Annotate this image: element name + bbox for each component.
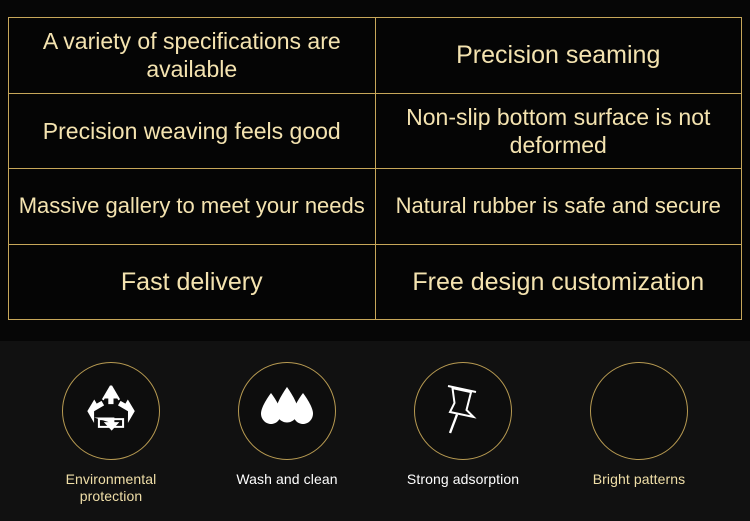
- feature-icon-strip: Environmental protection Wash and clean: [0, 341, 750, 521]
- table-row: A variety of specifications are availabl…: [9, 18, 741, 94]
- icon-item-strong-adsorption: Strong adsorption: [393, 362, 533, 488]
- icon-item-bright-patterns: Bright patterns: [569, 362, 709, 488]
- feature-text: Natural rubber is safe and secure: [396, 193, 721, 220]
- table-row: Massive gallery to meet your needs Natur…: [9, 169, 741, 245]
- feature-text: Free design customization: [412, 267, 704, 298]
- water-drops-icon: [254, 380, 320, 443]
- icon-item-environmental-protection: Environmental protection: [41, 362, 181, 505]
- feature-cell: Non-slip bottom surface is not deformed: [376, 94, 742, 169]
- feature-table: A variety of specifications are availabl…: [8, 17, 742, 320]
- feature-cell: Massive gallery to meet your needs: [9, 169, 376, 244]
- push-pin-icon: [435, 378, 491, 445]
- feature-cell: Fast delivery: [9, 245, 376, 320]
- icon-label: Wash and clean: [236, 471, 337, 488]
- icon-circle: [62, 362, 160, 460]
- feature-cell: Precision seaming: [376, 18, 742, 93]
- promo-banner: A variety of specifications are availabl…: [0, 0, 750, 521]
- feature-text: Precision seaming: [456, 40, 660, 71]
- icon-label: Strong adsorption: [407, 471, 519, 488]
- feature-text: Fast delivery: [121, 267, 263, 298]
- feature-cell: Free design customization: [376, 245, 742, 320]
- feature-text: Precision weaving feels good: [43, 117, 341, 145]
- icon-label: Bright patterns: [593, 471, 686, 488]
- icon-item-wash-and-clean: Wash and clean: [217, 362, 357, 488]
- feature-text: Non-slip bottom surface is not deformed: [382, 103, 736, 159]
- feature-cell: A variety of specifications are availabl…: [9, 18, 376, 93]
- feature-text: Massive gallery to meet your needs: [19, 193, 365, 220]
- icon-circle: [414, 362, 512, 460]
- table-row: Precision weaving feels good Non-slip bo…: [9, 94, 741, 170]
- feature-cell: Natural rubber is safe and secure: [376, 169, 742, 244]
- feature-cell: Precision weaving feels good: [9, 94, 376, 169]
- table-row: Fast delivery Free design customization: [9, 245, 741, 320]
- recycle-icon: [80, 380, 142, 443]
- icon-circle: [238, 362, 336, 460]
- icon-circle: [590, 362, 688, 460]
- feature-text: A variety of specifications are availabl…: [15, 27, 369, 83]
- icon-label: Environmental protection: [41, 471, 181, 505]
